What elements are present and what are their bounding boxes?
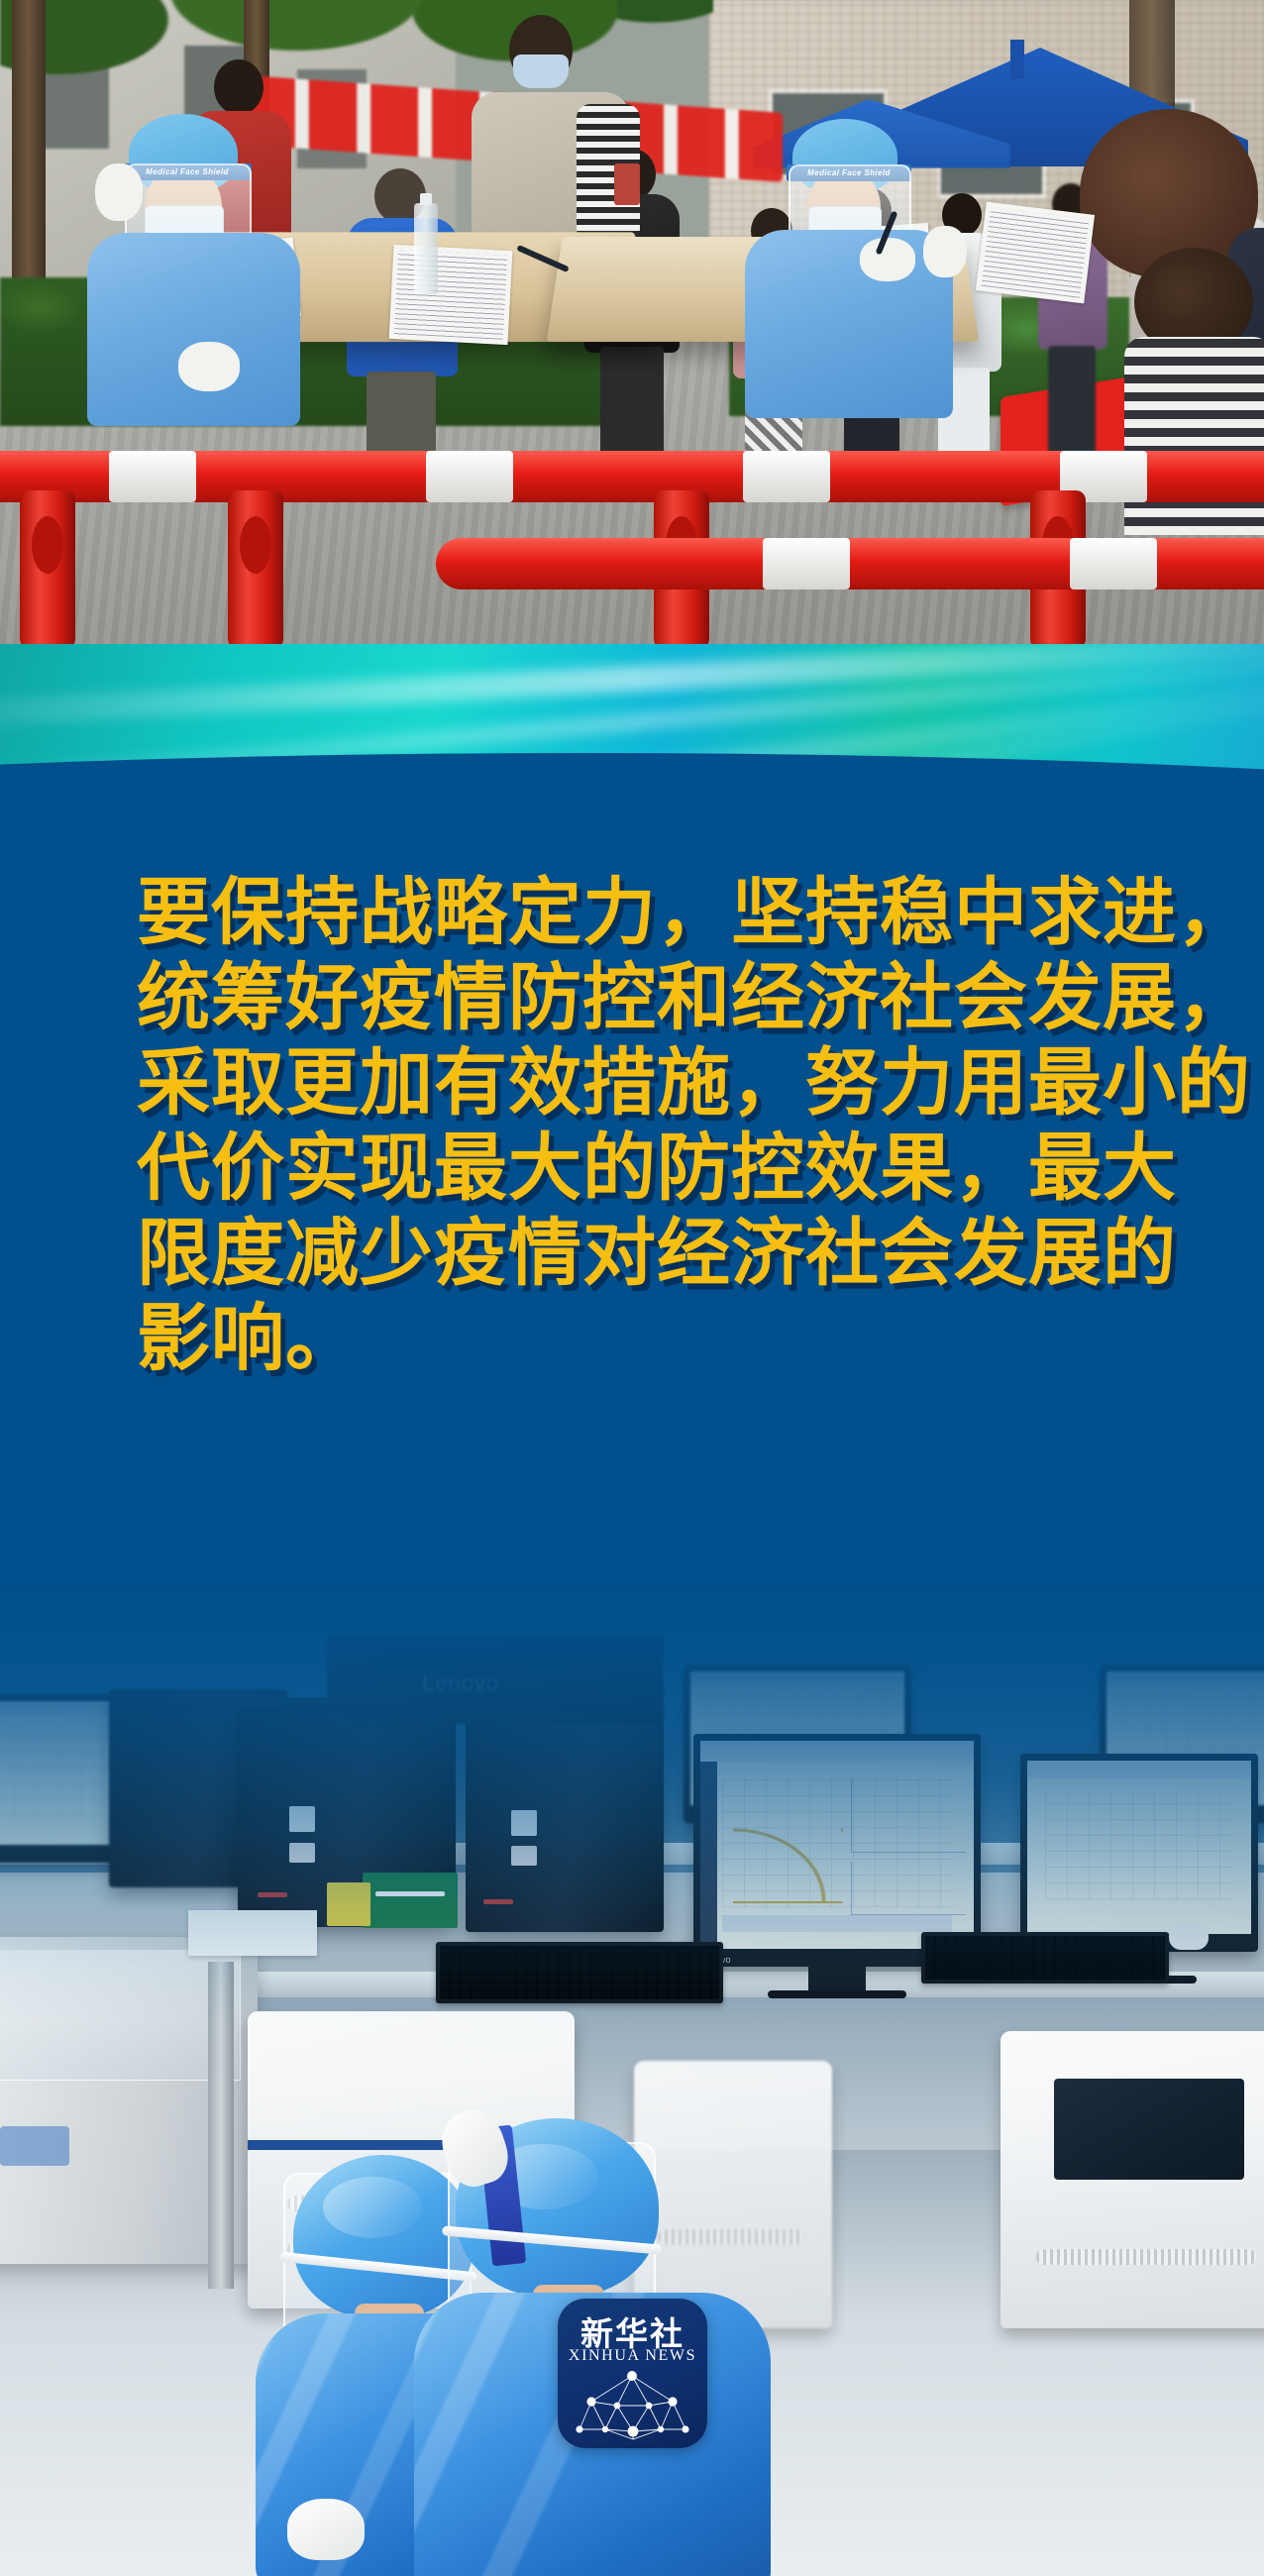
- pcr-analyzer-right: [1001, 2031, 1264, 2328]
- face-mask: [513, 54, 569, 88]
- equipment-tag: [327, 1882, 370, 1926]
- quote-line-1: 要保持战略定力，坚持稳中求进，: [137, 870, 1147, 955]
- tent-peak: [1010, 40, 1024, 79]
- quote-line-6: 影响。: [137, 1296, 1147, 1381]
- record-sheet: [976, 202, 1095, 304]
- quote-line-2: 统筹好疫情防控和经济社会发展，: [137, 955, 1147, 1040]
- gloved-hand: [178, 342, 240, 391]
- gloved-hand: [923, 226, 967, 277]
- gloved-hand: [287, 2499, 365, 2560]
- tree-trunk: [12, 0, 46, 307]
- poster-root: Medical Face Shield Medical Face Shield: [0, 0, 1264, 2576]
- paper-sheet: [188, 1910, 317, 1956]
- record-sheet: [389, 245, 513, 345]
- xinhua-news-logo: 新华社 XINHUA NEWS: [558, 2299, 707, 2448]
- quote-line-5: 限度减少疫情对经济社会发展的: [137, 1211, 1147, 1296]
- quote-panel: 要保持战略定力，坚持稳中求进， 统筹好疫情防控和经济社会发展， 采取更加有效措施…: [0, 852, 1264, 1605]
- lenovo-tower: Lenovo: [327, 1635, 664, 1724]
- pcr-instrument: [466, 1719, 664, 1932]
- quote-line-4: 代价实现最大的防控效果，最大: [137, 1126, 1147, 1211]
- ppe-gown: [745, 230, 953, 418]
- red-plastic-barrier-front: [0, 451, 1264, 646]
- smartphone-icon: [614, 163, 640, 205]
- cabinet-post: [208, 1962, 234, 2289]
- photo-top-testing-site: Medical Face Shield Medical Face Shield: [0, 0, 1264, 646]
- keyboard: [921, 1932, 1169, 1984]
- cabinet-decal: [0, 2126, 69, 2166]
- safety-sign: [363, 1873, 458, 1928]
- analyzer-screen: [1054, 2079, 1244, 2180]
- quote-line-3: 采取更加有效措施，努力用最小的: [137, 1040, 1147, 1126]
- mouse-icon: [1169, 1924, 1209, 1950]
- hand-sanitizer-bottle: [414, 203, 438, 294]
- quote-block: 要保持战略定力，坚持稳中求进， 统筹好疫情防控和经济社会发展， 采取更加有效措施…: [137, 870, 1147, 1381]
- gloved-hand: [95, 163, 143, 221]
- keyboard: [436, 1942, 723, 2003]
- monitor-right: [1020, 1754, 1258, 1952]
- ppe-gown: [87, 233, 300, 426]
- gloved-hand: [860, 238, 915, 281]
- network-globe-icon: [558, 2362, 707, 2448]
